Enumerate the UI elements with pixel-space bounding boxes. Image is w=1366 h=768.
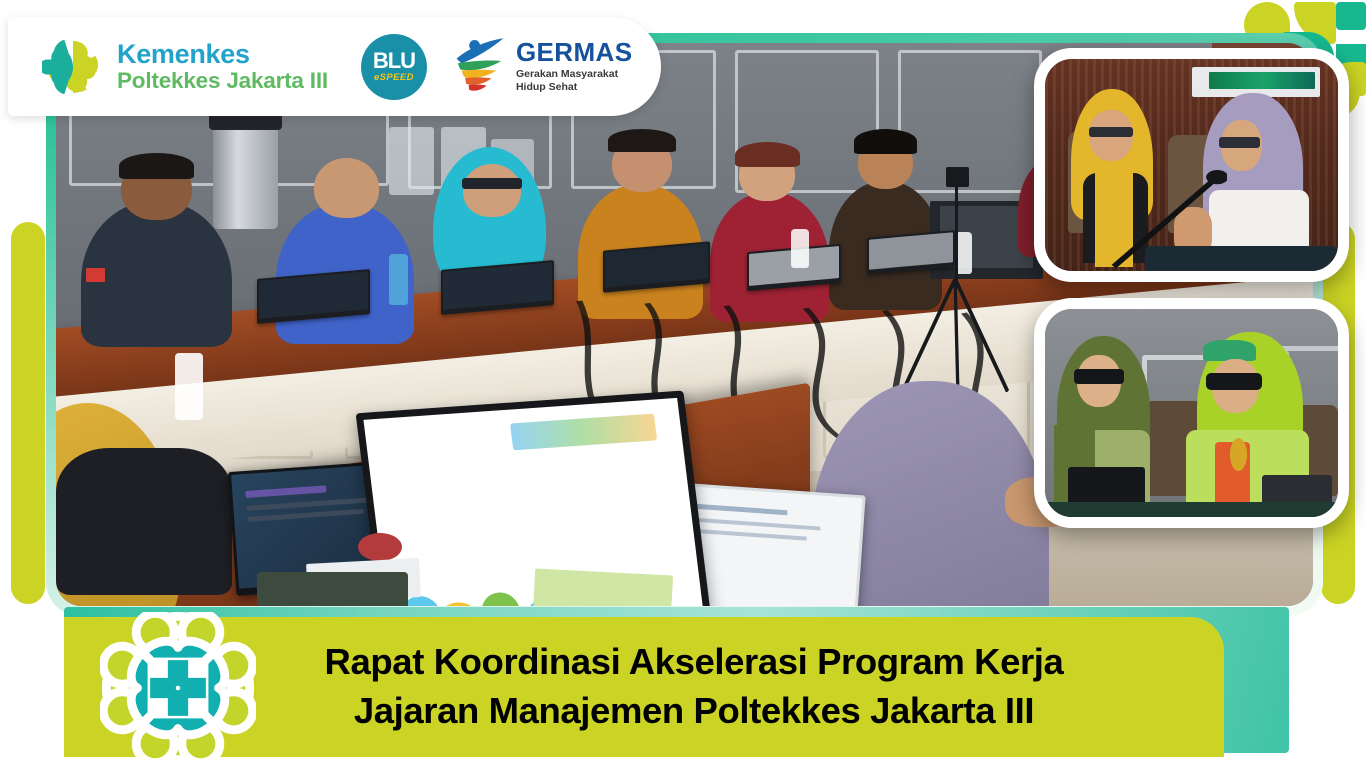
poltekkes-flower-cross-emblem-icon bbox=[100, 612, 256, 764]
blu-title: BLU bbox=[373, 50, 415, 72]
side-bar-left bbox=[11, 222, 45, 604]
inset-photo-bottom bbox=[1034, 298, 1349, 528]
kemenkes-subtitle: Poltekkes Jakarta III bbox=[117, 70, 328, 93]
kemenkes-logo: Kemenkes Poltekkes Jakarta III bbox=[42, 36, 328, 98]
blu-logo: BLU eSPEED bbox=[361, 34, 427, 100]
blu-subtitle: eSPEED bbox=[374, 73, 414, 83]
inset-photo-top bbox=[1034, 48, 1349, 282]
kemenkes-flower-logo-icon bbox=[42, 36, 104, 98]
page-title: Rapat Koordinasi Akselerasi Program Kerj… bbox=[207, 638, 1082, 736]
germas-swoosh-logo-icon bbox=[453, 37, 507, 97]
germas-subtitle-line2: Hidup Sehat bbox=[516, 81, 633, 94]
germas-logo: GERMAS Gerakan Masyarakat Hidup Sehat bbox=[453, 37, 633, 97]
page-title-line2: Jajaran Manajemen Poltekkes Jakarta III bbox=[325, 687, 1064, 736]
flyer-canvas: Kemenkes Poltekkes Jakarta III BLU eSPEE… bbox=[0, 0, 1366, 768]
germas-subtitle-line1: Gerakan Masyarakat bbox=[516, 68, 633, 81]
logo-bar: Kemenkes Poltekkes Jakarta III BLU eSPEE… bbox=[8, 17, 661, 116]
kemenkes-title: Kemenkes bbox=[117, 41, 328, 68]
germas-title: GERMAS bbox=[516, 39, 633, 65]
blu-circle-logo-icon: BLU eSPEED bbox=[361, 34, 427, 100]
page-title-line1: Rapat Koordinasi Akselerasi Program Kerj… bbox=[325, 638, 1064, 687]
